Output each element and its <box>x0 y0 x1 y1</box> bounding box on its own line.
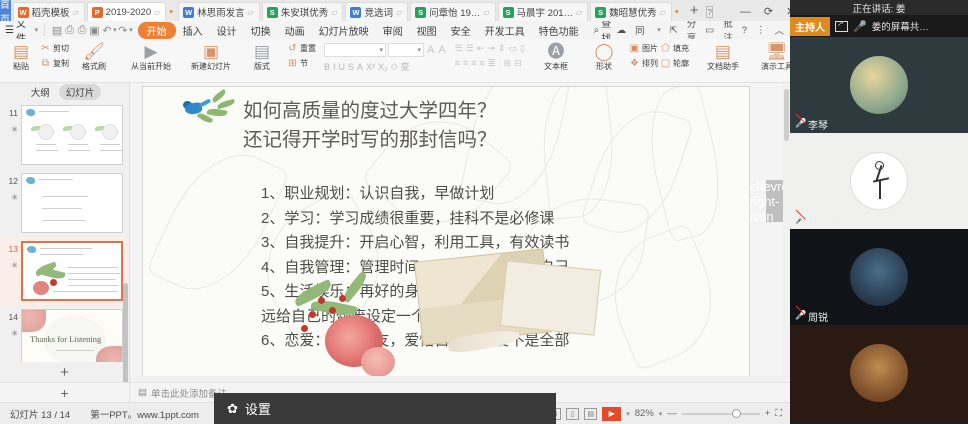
print-preview-icon[interactable]: ⎙ <box>63 23 75 37</box>
document-tab-0[interactable]: W 稻壳模板 ▱ <box>13 2 85 21</box>
ribbon-toolbar: ▤ 粘贴 ✂ 剪切 ⧉ 复制 🖌 格式刷 ▶ 从当 <box>0 39 790 83</box>
zoom-slider-handle[interactable] <box>732 409 741 418</box>
clear-format-button[interactable]: ◇ <box>391 61 398 72</box>
notes-placeholder[interactable]: ▤ 单击此处添加备注 <box>130 386 227 400</box>
play-from-current-button[interactable]: ▶ 从当前开始 <box>125 41 177 72</box>
document-tab-1[interactable]: P 2019-2020 ▱ <box>87 2 167 21</box>
copy-button[interactable]: ⧉ 复制 <box>40 56 69 70</box>
new-slide-button[interactable]: ▣ 新建幻灯片 <box>185 41 237 72</box>
chevron-down-icon[interactable]: ▾ <box>659 410 663 418</box>
participant-name: 林思雨 <box>808 213 838 228</box>
document-tab-6[interactable]: S 马晨宇 201… ▱ <box>498 2 589 21</box>
participant-name: 周锐 <box>808 309 828 324</box>
participant-tile-1[interactable]: 林思雨 <box>790 133 968 229</box>
section-button[interactable]: ⊞ 节 <box>287 56 316 70</box>
wps-template-icon: W <box>18 7 29 18</box>
document-tab-bar: 首页 W 稻壳模板 ▱ P 2019-2020 ▱ • W 林思雨发言 ▱ S … <box>0 0 790 21</box>
participant-name-row: 李琴 <box>790 115 828 133</box>
slide-thumbnail-14[interactable]: 14 ✳ Thanks for Listening <box>0 306 129 362</box>
outline-icon: ▢ <box>660 58 671 69</box>
participant-name: 李琴 <box>808 117 828 132</box>
rose-illustration <box>361 347 395 377</box>
microphone-muted-icon <box>795 118 804 130</box>
slide-panel-tabs: 大纲 幻灯片 <box>0 83 129 100</box>
distribute-button[interactable]: ≣ <box>488 58 496 69</box>
section-icon: ⊞ <box>287 58 298 69</box>
bird-decoration-icon <box>27 246 36 253</box>
ribbon-group-clipboard: ▤ 粘贴 ✂ 剪切 ⧉ 复制 🖌 格式刷 <box>0 39 121 83</box>
tab-home[interactable]: 开始 <box>138 22 176 39</box>
line-spacing-button[interactable]: ⇕ <box>498 43 506 54</box>
reset-icon: ↺ <box>287 43 298 54</box>
redo-icon[interactable]: ↷ <box>117 23 129 37</box>
participant-tile-0[interactable]: 李琴 <box>790 37 968 133</box>
minimize-button[interactable]: — <box>740 6 751 18</box>
work-area: 大纲 幻灯片 11 ✳ <box>0 83 790 382</box>
unsaved-dot-icon: • <box>169 6 173 18</box>
ribbon-tabs: 开始 插入 设计 切换 动画 幻灯片放映 审阅 视图 安全 开发工具 特色功能 <box>138 22 586 39</box>
tab-insert[interactable]: 插入 <box>176 22 210 39</box>
tab-slides[interactable]: 幻灯片 <box>59 84 102 100</box>
source-label: 第一PPT。www.1ppt.com <box>80 407 209 421</box>
animation-star-icon: ✳ <box>2 329 18 338</box>
bullet-list-button[interactable]: ☰ <box>455 43 463 54</box>
layout-icon: ▤ <box>254 43 270 60</box>
slide-title[interactable]: 如何高质量的度过大学四年？ 还记得开学时写的那封信吗？ <box>243 97 497 155</box>
animation-star-icon: ✳ <box>2 261 18 270</box>
tab-help-badge[interactable]: ? <box>706 6 712 18</box>
thumbnail-preview[interactable]: Thanks for Listening <box>21 309 123 362</box>
textbox-icon: 🅐 <box>547 43 564 60</box>
highlight-button[interactable]: 变 <box>400 60 409 73</box>
italic-button[interactable]: I <box>333 62 336 72</box>
menu-bar: ☰ 文件 ▾ ▤ ⎙ ⎙ ▣ ↶ ▾ ↷ ▾ 开始 插入 设计 切换 动画 幻灯… <box>0 21 790 39</box>
reading-view-icon[interactable]: ▯ <box>566 408 579 420</box>
comment-icon[interactable]: ▭ <box>705 25 714 36</box>
font-color-button[interactable]: A <box>357 62 363 72</box>
leaf-sprig-decoration <box>195 91 241 127</box>
undo-icon[interactable]: ↶ <box>101 23 113 37</box>
screen-share-icon[interactable] <box>835 21 848 32</box>
avatar <box>850 248 908 306</box>
ribbon-group-tools: ▤ 文档助手 🖥 演示工具 ⌕ 查找 ⇄ 替换 <box>693 39 790 83</box>
help-icon[interactable]: ? <box>742 25 747 36</box>
cloud-sync-icon[interactable]: ☁ <box>617 25 627 36</box>
unsaved-dot-icon: • <box>675 6 679 18</box>
text-direction-button[interactable]: ▭ <box>508 43 517 54</box>
slide-title-line-2: 还记得开学时写的那封信吗？ <box>243 126 497 155</box>
gear-icon: ✿ <box>227 401 238 417</box>
more-icon[interactable]: ⋮ <box>756 25 766 36</box>
microphone-muted-icon <box>795 214 804 226</box>
numbered-list-button[interactable]: ☰ <box>466 43 474 54</box>
notes-view-icon[interactable]: ▤ <box>584 408 597 420</box>
avatar <box>850 56 908 114</box>
settings-label: 设置 <box>245 399 271 418</box>
participant-tile-3[interactable] <box>790 325 968 421</box>
thumbnail-preview[interactable] <box>21 241 123 301</box>
host-share-bar[interactable]: 主持人 🎤 姜的屏幕共… <box>790 15 968 37</box>
subscript-button[interactable]: X₂ <box>378 62 388 72</box>
print-icon[interactable]: ⎙ <box>76 23 88 37</box>
slide-thumbnail-13[interactable]: 13 ✳ <box>0 238 129 306</box>
notes-icon: ▤ <box>138 387 147 398</box>
search-doc-icon[interactable]: ▣ <box>88 23 100 37</box>
align-right-button[interactable]: ≡ <box>471 58 476 69</box>
wps-presentation-window: 首页 W 稻壳模板 ▱ P 2019-2020 ▱ • W 林思雨发言 ▱ S … <box>0 0 790 424</box>
participant-name-row: 林思雨 <box>790 211 838 229</box>
chevron-down-icon: ▾ <box>379 46 383 54</box>
arrange-icon: ❖ <box>629 58 640 69</box>
bold-button[interactable]: B <box>324 62 330 72</box>
cut-button[interactable]: ✂ 剪切 <box>40 41 69 55</box>
bullet-3: 3、自我提升：开启心智，利用工具，有效读书 <box>261 231 711 256</box>
tab-close-icon[interactable]: ▱ <box>73 8 79 17</box>
new-slide-icon: ▣ <box>203 43 219 60</box>
menu-hamburger-icon[interactable]: ☰ <box>5 25 13 36</box>
chevron-down-icon[interactable]: ▾ <box>657 26 661 34</box>
slide-number: 11 <box>9 108 18 118</box>
play-circle-icon: ▶ <box>144 43 157 60</box>
bird-decoration-icon <box>26 109 35 116</box>
ribbon-group-slides: ▣ 新建幻灯片 ▤ 版式 ↺ 重置 ⊞ 节 <box>181 39 320 83</box>
fill-button[interactable]: ⬠ 填充 <box>660 41 689 55</box>
underline-button[interactable]: U <box>339 62 346 72</box>
slide-number: 13 <box>9 244 18 254</box>
slide-panel: 大纲 幻灯片 11 ✳ <box>0 83 130 382</box>
participant-tile-2[interactable]: 周锐 <box>790 229 968 325</box>
tab-slideshow[interactable]: 幻灯片放映 <box>312 22 376 39</box>
tab-special-features[interactable]: 特色功能 <box>532 22 586 39</box>
document-tab-7[interactable]: S 魏昭慧优秀 ▱ <box>590 2 672 21</box>
avatar <box>850 344 908 402</box>
window-controls: — ⟳ ✕ <box>731 5 790 21</box>
decrease-indent-button[interactable]: ⇤ <box>477 43 485 54</box>
ribbon-group-paragraph: ☰ ☰ ⇤ ⇥ ⇕ ▭ ▯ ≡ ≡ ≡ ≡ ≣ ⫶ ⊞ ⊟ <box>451 39 529 83</box>
excel-file-icon: S <box>415 7 426 18</box>
tab-review[interactable]: 审阅 <box>376 22 410 39</box>
host-share-label: 姜的屏幕共… <box>872 19 929 33</box>
paste-icon: ▤ <box>13 43 29 60</box>
align-left-button[interactable]: ≡ <box>455 58 460 69</box>
present-tools-button[interactable]: 🖥 演示工具 <box>751 41 790 72</box>
participant-name-row <box>790 403 795 421</box>
tab-close-icon[interactable]: ▱ <box>248 8 254 17</box>
postcard-illustration <box>500 260 601 336</box>
tab-developer[interactable]: 开发工具 <box>478 22 532 39</box>
settings-tooltip[interactable]: ✿ 设置 <box>214 393 556 424</box>
grow-font-button[interactable]: A <box>426 44 435 56</box>
doc-assistant-button[interactable]: ▤ 文档助手 <box>697 41 749 72</box>
word-file-icon: W <box>183 7 194 18</box>
document-tab-3[interactable]: S 朱安琪优秀 ▱ <box>262 2 344 21</box>
tab-view[interactable]: 视图 <box>410 22 444 39</box>
paste-button[interactable]: ▤ 粘贴 <box>4 41 38 72</box>
save-icon[interactable]: ▤ <box>51 23 63 37</box>
bullet-1: 1、职业规划：认识自我，早做计划 <box>261 182 711 207</box>
collapse-ribbon-icon[interactable]: ︿ <box>775 23 785 37</box>
meeting-panel: 正在讲话: 姜 主持人 🎤 姜的屏幕共… 李琴 林思雨 周锐 <box>790 0 968 424</box>
paragraph-settings-button[interactable]: ⊟ <box>514 58 522 69</box>
align-center-button[interactable]: ≡ <box>463 58 468 69</box>
thumbnail-preview[interactable] <box>21 173 123 233</box>
picture-icon: ▣ <box>629 43 640 54</box>
document-tab-5[interactable]: S 问章怡 19… ▱ <box>410 2 495 21</box>
tab-close-icon[interactable]: ▱ <box>154 8 160 17</box>
font-name-select[interactable]: ▾ <box>324 43 386 57</box>
slide-thumbnail-list[interactable]: 11 ✳ <box>0 100 129 362</box>
tab-close-icon[interactable]: ▱ <box>396 8 402 17</box>
status-right-controls: ≡▾ ▥ ⊞ ▯ ▤ ▶ ▾ 82% ▾ — + ⛶ <box>515 407 790 421</box>
chevron-down-icon[interactable]: ▾ <box>626 410 630 418</box>
add-slide-button[interactable]: + <box>0 362 129 382</box>
slide-title-line-1: 如何高质量的度过大学四年？ <box>243 97 497 126</box>
format-brush-icon: 🖌 <box>83 43 105 60</box>
restore-button[interactable]: ⟳ <box>764 5 773 18</box>
word-file-icon: W <box>350 7 361 18</box>
doc-assistant-icon: ▤ <box>715 43 731 60</box>
search-icon: ⌕ <box>594 25 600 36</box>
slide-stage[interactable]: 如何高质量的度过大学四年？ 还记得开学时写的那封信吗？ 1、职业规划：认识自我，… <box>130 83 790 382</box>
thumbnail-preview[interactable] <box>21 105 123 165</box>
customize-icon[interactable]: ▾ <box>129 26 133 34</box>
scissors-icon: ✂ <box>40 43 51 54</box>
host-badge: 主持人 <box>790 17 830 36</box>
tab-close-icon[interactable]: ▱ <box>660 8 666 17</box>
tab-close-icon[interactable]: ▱ <box>483 8 489 17</box>
align-text-button[interactable]: ▯ <box>520 43 525 54</box>
zoom-level-label[interactable]: 82% <box>635 408 654 419</box>
textbox-button[interactable]: 🅐 文本框 <box>533 41 579 72</box>
tab-close-icon[interactable]: ▱ <box>576 8 582 17</box>
animation-star-icon: ✳ <box>2 193 18 202</box>
thumbnail-title: Thanks for Listening <box>30 334 101 344</box>
format-brush-button[interactable]: 🖌 格式刷 <box>71 41 117 72</box>
layout-button[interactable]: ▤ 版式 <box>239 41 285 72</box>
shrink-font-button[interactable]: A <box>437 44 446 56</box>
increase-indent-button[interactable]: ⇥ <box>487 43 495 54</box>
animation-star-icon: ✳ <box>2 125 18 134</box>
separator <box>44 25 45 36</box>
avatar <box>850 152 908 210</box>
excel-file-icon: S <box>595 7 606 18</box>
present-tools-icon: 🖥 <box>766 43 788 60</box>
tab-close-icon[interactable]: ▱ <box>331 8 337 17</box>
smartart-button[interactable]: ⊞ <box>504 58 512 69</box>
shape-icon: ◯ <box>594 43 613 60</box>
outline-button[interactable]: ▢ 轮廓 <box>660 56 689 70</box>
home-tab[interactable]: 首页 <box>0 0 11 21</box>
microphone-muted-icon <box>795 310 804 322</box>
chevron-down-icon: ▾ <box>417 46 421 54</box>
excel-file-icon: S <box>267 7 278 18</box>
bullet-2: 2、学习：学习成绩很重要，挂科不是必修课 <box>261 207 711 232</box>
ribbon-group-insert: 🅐 文本框 ◯ 形状 ▣ 图片 ❖ 排列 ⬠ 填充 <box>529 39 693 83</box>
microphone-icon[interactable]: 🎤 <box>853 20 867 33</box>
columns-button[interactable]: ⫶ <box>498 58 500 69</box>
slide-thumbnail-11[interactable]: 11 ✳ <box>0 102 129 170</box>
fill-icon: ⬠ <box>660 43 671 54</box>
fit-to-window-button[interactable]: ⛶ <box>775 408 782 419</box>
zoom-in-button[interactable]: + <box>765 408 771 419</box>
copy-icon: ⧉ <box>40 58 51 69</box>
stage-vertical-scrollbar[interactable] <box>783 83 790 382</box>
slide-number: 14 <box>9 312 18 322</box>
zoom-out-button[interactable]: — <box>667 408 677 419</box>
strikethrough-button[interactable]: S <box>348 62 354 72</box>
play-slideshow-button[interactable]: ▶ <box>602 407 621 421</box>
participant-name-row: 周锐 <box>790 307 828 325</box>
tab-transitions[interactable]: 切换 <box>244 22 278 39</box>
zoom-slider[interactable] <box>682 413 760 415</box>
share-icon[interactable]: ⇱ <box>670 25 678 36</box>
next-slide-button[interactable]: chevron-right-icon <box>766 180 784 222</box>
new-tab-button[interactable]: + <box>682 2 707 21</box>
ribbon-group-play: ▶ 从当前开始 <box>121 39 181 83</box>
shape-button[interactable]: ◯ 形状 <box>581 41 627 72</box>
slide-number: 12 <box>9 176 18 186</box>
slide-thumbnail-12[interactable]: 12 ✳ <box>0 170 129 238</box>
justify-button[interactable]: ≡ <box>479 58 484 69</box>
add-slide-button-notes[interactable]: + <box>0 383 130 402</box>
document-tab-2[interactable]: W 林思雨发言 ▱ <box>178 2 260 21</box>
bird-decoration-icon <box>26 177 35 184</box>
speaking-indicator: 正在讲话: 姜 <box>790 0 968 15</box>
current-slide[interactable]: 如何高质量的度过大学四年？ 还记得开学时写的那封信吗？ 1、职业规划：认识自我，… <box>142 86 750 382</box>
ribbon-group-font: ▾ ▾ A A B I U S A X² X₂ <box>320 39 451 83</box>
reset-button[interactable]: ↺ 重置 <box>287 41 316 55</box>
document-tab-4[interactable]: W 竞选词 ▱ <box>345 2 408 21</box>
tab-design[interactable]: 设计 <box>210 22 244 39</box>
tab-animations[interactable]: 动画 <box>278 22 312 39</box>
arrange-button[interactable]: ❖ 排列 <box>629 56 658 70</box>
tab-security[interactable]: 安全 <box>444 22 478 39</box>
chevron-down-icon[interactable]: ▾ <box>35 26 39 34</box>
picture-button[interactable]: ▣ 图片 <box>629 41 658 55</box>
slide-counter: 幻灯片 13 / 14 <box>0 407 80 421</box>
excel-file-icon: S <box>503 7 514 18</box>
tab-outline[interactable]: 大纲 <box>28 84 53 100</box>
font-size-select[interactable]: ▾ <box>388 43 424 57</box>
ppt-file-icon: P <box>92 7 103 18</box>
superscript-button[interactable]: X² <box>366 62 375 72</box>
